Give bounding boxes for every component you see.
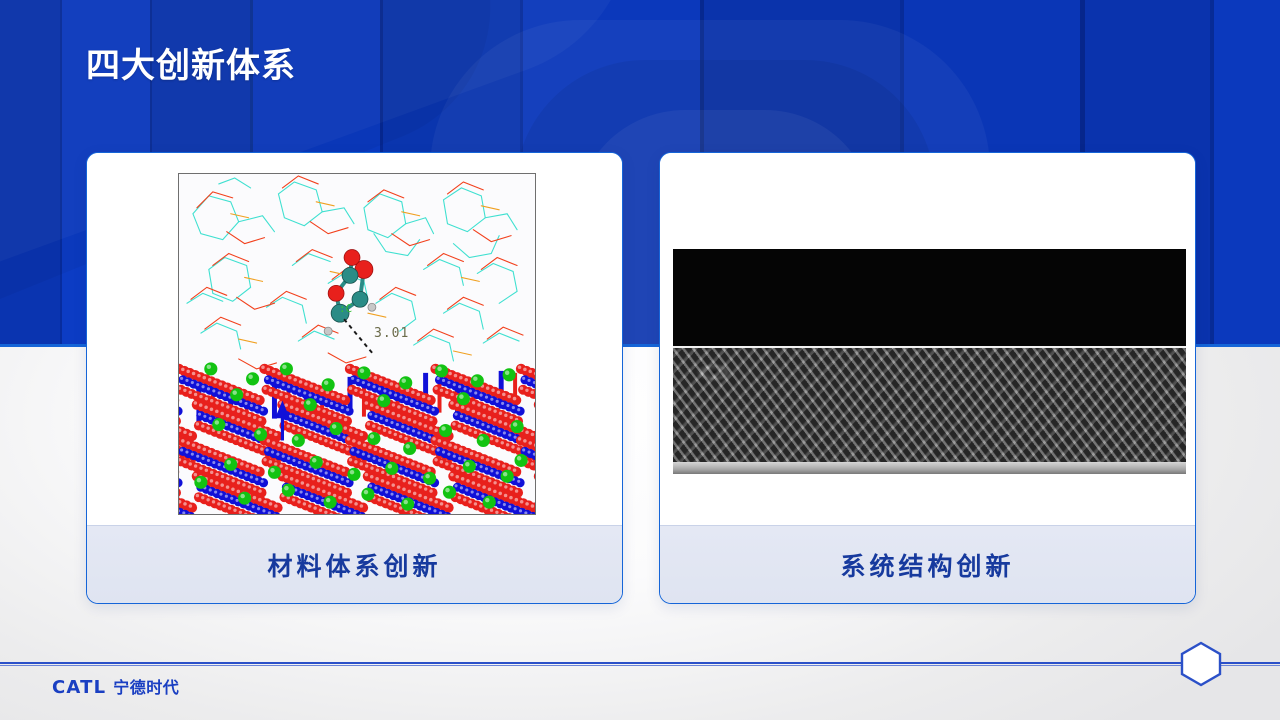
sem-substrate-region	[673, 462, 1186, 474]
sem-vacuum-region	[673, 249, 1186, 353]
brand-logo: CATL 宁德时代	[52, 674, 179, 698]
brand-chinese-text: 宁德时代	[113, 674, 179, 698]
crystal-lattice-svg	[179, 174, 535, 514]
card-label-material-system-innovation: 材料体系创新	[87, 525, 622, 603]
atom-annotation: :C	[339, 302, 352, 315]
card-media-left: 3.01 :C	[87, 153, 622, 525]
distance-annotation: 3.01	[374, 326, 409, 341]
molecular-dynamics-figure: 3.01 :C	[178, 173, 536, 515]
card-label-system-structure-innovation: 系统结构创新	[660, 525, 1195, 603]
card-media-right	[660, 153, 1195, 525]
footer-divider-secondary	[0, 665, 1280, 666]
slide-root: 四大创新体系	[0, 0, 1280, 720]
card-system-structure-innovation[interactable]: 系统结构创新	[659, 152, 1196, 604]
sem-cross-section-figure	[673, 249, 1186, 474]
sem-porous-electrode-layer	[673, 348, 1186, 470]
footer-divider	[0, 662, 1280, 664]
brand-latin-text: CATL	[52, 677, 106, 698]
hexagon-icon	[1178, 641, 1224, 687]
card-material-system-innovation[interactable]: 3.01 :C 材料体系创新	[86, 152, 623, 604]
page-title: 四大创新体系	[86, 44, 296, 88]
